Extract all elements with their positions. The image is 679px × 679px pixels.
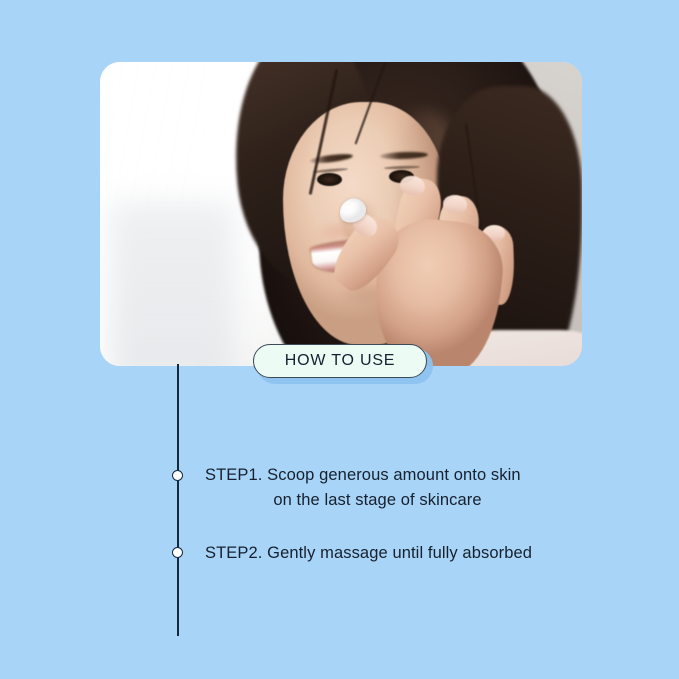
how-to-use-badge-body: HOW TO USE <box>253 344 427 378</box>
step-1-line-2: on the last stage of skincare <box>205 488 550 513</box>
how-to-use-badge: HOW TO USE <box>253 344 431 382</box>
step-1-text: STEP1. Scoop generous amount onto skin o… <box>205 463 550 513</box>
product-usage-photo-card <box>100 62 582 366</box>
step-2-line-1: STEP2. Gently massage until fully absorb… <box>205 541 575 566</box>
step-1-line-1: STEP1. Scoop generous amount onto skin <box>205 463 550 488</box>
photo-scene <box>100 62 582 366</box>
step-2-text: STEP2. Gently massage until fully absorb… <box>205 541 575 566</box>
how-to-use-panel: HOW TO USE STEP1. Scoop generous amount … <box>0 0 679 679</box>
timeline-marker-step-1 <box>172 470 183 481</box>
timeline-connector-line <box>177 364 179 636</box>
timeline-marker-step-2 <box>172 547 183 558</box>
how-to-use-badge-label: HOW TO USE <box>285 352 396 370</box>
photo-window-light-secondary <box>110 202 235 366</box>
